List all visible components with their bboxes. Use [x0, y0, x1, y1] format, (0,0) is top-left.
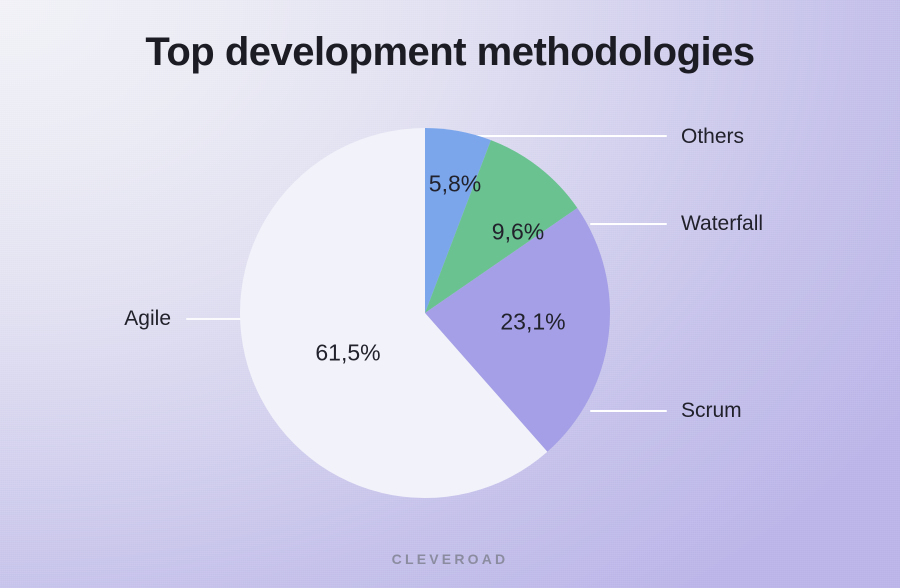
slice-value-agile: 61,5%	[315, 340, 380, 367]
page-title: Top development methodologies	[0, 30, 900, 75]
category-label-others[interactable]: Others	[681, 125, 744, 149]
leader-line-agile	[186, 318, 243, 320]
slice-value-waterfall: 9,6%	[492, 219, 544, 246]
chart-canvas: Top development methodologies OthersWate…	[0, 0, 900, 588]
slice-value-scrum: 23,1%	[500, 309, 565, 336]
category-label-waterfall[interactable]: Waterfall	[681, 212, 763, 236]
category-label-agile[interactable]: Agile	[124, 307, 171, 331]
category-label-scrum[interactable]: Scrum	[681, 399, 742, 423]
cleveroad-watermark: CLEVEROAD	[0, 551, 900, 567]
slice-value-others: 5,8%	[429, 171, 481, 198]
